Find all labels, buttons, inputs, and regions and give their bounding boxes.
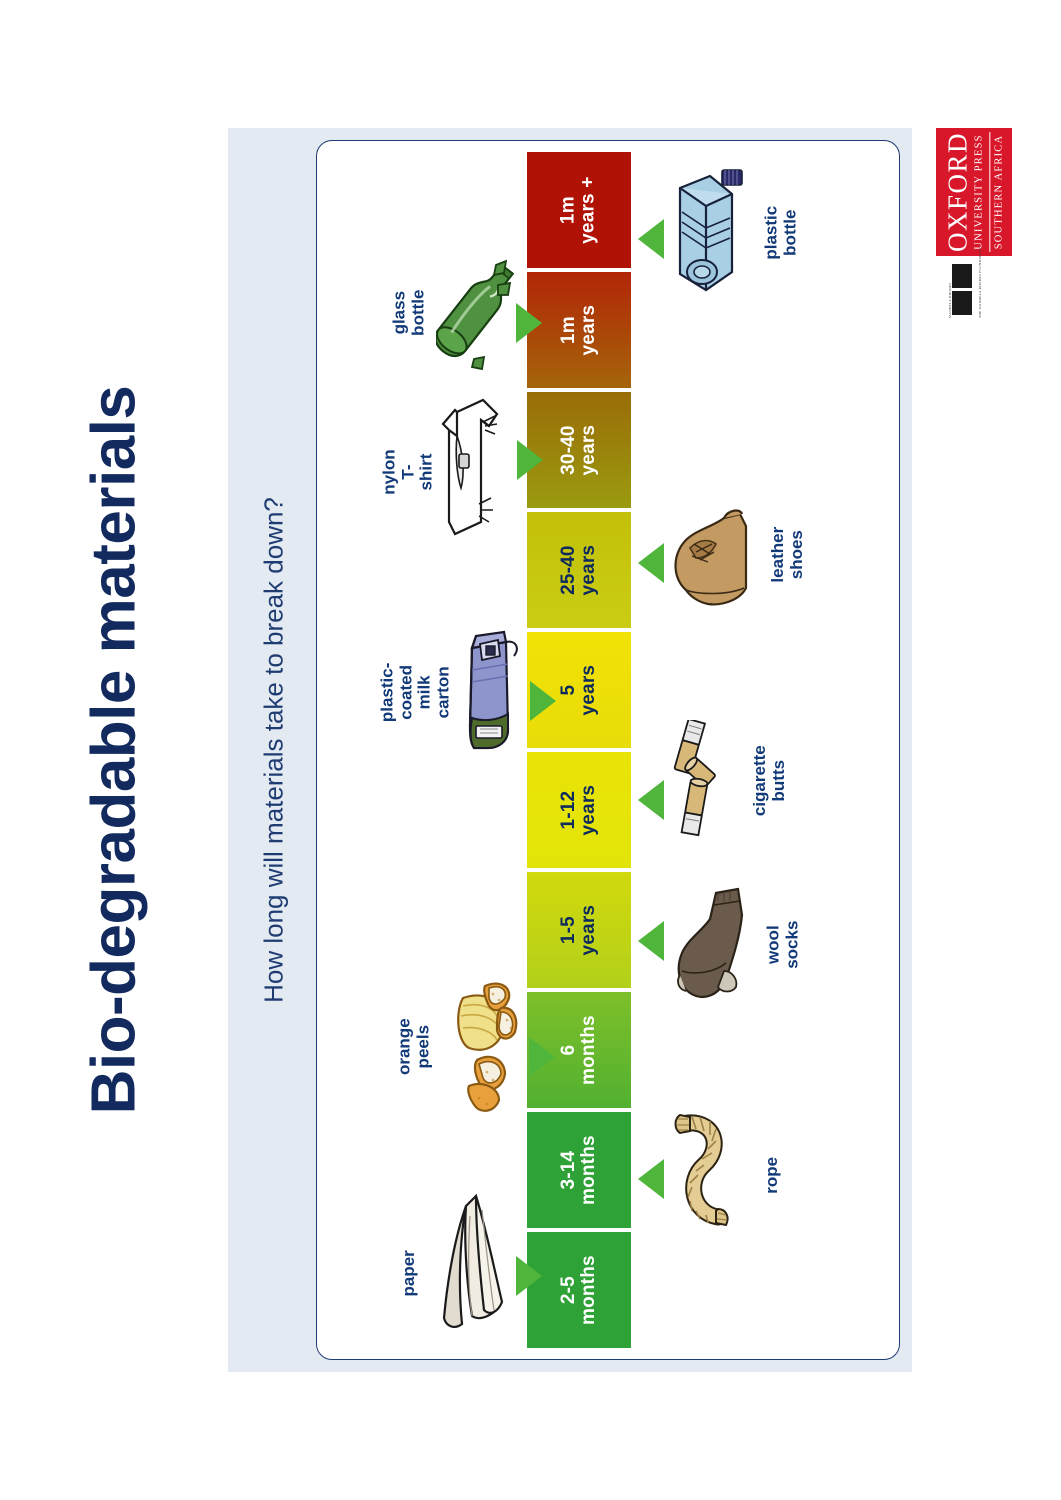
item-label: glass bottle xyxy=(390,290,427,336)
mrf-foundation-text: THE MANDELA RHODES FOUNDATION xyxy=(978,248,982,318)
item-label: rope xyxy=(763,1157,782,1194)
mrf-sub-text: MANDELA RHODES xyxy=(948,283,952,318)
scale-segment: 2-5 months xyxy=(527,1232,631,1348)
oup-press: UNIVERSITY PRESS xyxy=(974,132,985,252)
scale-segment: 25-40 years xyxy=(527,512,631,628)
item-glass-bottle: glass bottle xyxy=(386,248,532,378)
scale-segment-label: 2-5 months xyxy=(559,1255,599,1325)
item-label: leather shoes xyxy=(769,527,806,583)
nylon-tshirt-illustration xyxy=(435,392,515,552)
item-nylon-tshirt: nylon T-shirt xyxy=(386,388,532,556)
item-label: plastic-coated milk carton xyxy=(378,662,453,722)
plastic-bottle-illustration xyxy=(666,168,748,298)
arrow-right-icon xyxy=(516,1256,542,1296)
scale-segment: 1m years xyxy=(527,272,631,388)
item-wool-socks: wool socks xyxy=(638,870,808,1020)
oxford-university-press-logo: OXFORD UNIVERSITY PRESS SOUTHERN AFRICA xyxy=(936,128,1012,256)
paper-illustration xyxy=(436,1192,514,1354)
leather-shoes-illustration xyxy=(666,496,752,614)
item-paper: paper xyxy=(386,1190,532,1356)
arrow-left-icon xyxy=(638,219,664,259)
mandela-rhodes-foundation-logo: THE MANDELA RHODES FOUNDATION MANDELA RH… xyxy=(938,262,986,320)
poster-page: Bio-degradable materials How long will m… xyxy=(0,0,1061,1500)
mrf-tile-bottom xyxy=(952,291,972,315)
item-label: plastic bottle xyxy=(762,206,799,260)
scale-segment-label: 1m years xyxy=(559,305,599,356)
arrow-right-icon xyxy=(530,681,556,721)
page-title-area: Bio-degradable materials xyxy=(0,0,228,1500)
item-rope: rope xyxy=(638,1100,808,1250)
scale-segment-label: 30-40 years xyxy=(559,425,599,476)
scale-segment: 3-14 months xyxy=(527,1112,631,1228)
rope-illustration xyxy=(666,1105,746,1245)
arrow-right-icon xyxy=(529,1037,555,1077)
arrow-left-icon xyxy=(638,921,664,961)
scale-segment-label: 25-40 years xyxy=(559,545,599,596)
scale-segment-label: 3-14 months xyxy=(559,1135,599,1205)
oup-name: OXFORD xyxy=(943,132,971,252)
orange-peels-illustration xyxy=(447,976,527,1118)
page-title: Bio-degradable materials xyxy=(79,386,150,1115)
subtitle-area: How long will materials take to break do… xyxy=(232,130,316,1370)
scale-segment-label: 1-12 years xyxy=(559,785,599,836)
scale-segment-label: 1-5 years xyxy=(559,905,599,956)
item-leather-shoes: leather shoes xyxy=(638,490,808,620)
scale-segment-label: 5 years xyxy=(559,665,599,716)
arrow-left-icon xyxy=(638,1159,664,1199)
item-plastic-bottle: plastic bottle xyxy=(638,158,808,308)
mrf-tile-top xyxy=(952,264,972,288)
item-label: wool socks xyxy=(764,920,801,970)
oup-region: SOUTHERN AFRICA xyxy=(990,132,1005,252)
item-label: paper xyxy=(400,1250,419,1296)
cigarette-butts-illustration xyxy=(666,720,728,842)
arrow-left-icon xyxy=(638,780,664,820)
decomposition-scale-bar: 1m years + 1m years 30-40 years 25-40 ye… xyxy=(527,152,631,1348)
milk-carton-illustration xyxy=(450,626,528,758)
item-label: nylon T-shirt xyxy=(381,449,437,494)
arrow-right-icon xyxy=(516,303,542,343)
item-milk-carton: plastic-coated milk carton xyxy=(386,622,532,762)
item-label: orange peels xyxy=(396,1019,433,1076)
page-subtitle: How long will materials take to break do… xyxy=(259,497,290,1003)
oup-logo-text: OXFORD UNIVERSITY PRESS SOUTHERN AFRICA xyxy=(943,132,1004,252)
item-orange-peels: orange peels xyxy=(386,972,532,1122)
scale-segment: 1m years + xyxy=(527,152,631,268)
scale-segment: 1-5 years xyxy=(527,872,631,988)
arrow-right-icon xyxy=(517,440,543,480)
arrow-left-icon xyxy=(638,543,664,583)
item-label: cigarette butts xyxy=(751,746,788,817)
scale-segment-label: 6 months xyxy=(559,1015,599,1085)
scale-segment: 1-12 years xyxy=(527,752,631,868)
glass-bottle-illustration xyxy=(436,253,514,373)
scale-segment-label: 1m years + xyxy=(559,176,599,243)
wool-socks-illustration xyxy=(666,875,752,1015)
item-cigarette-butts: cigarette butts xyxy=(638,718,798,844)
